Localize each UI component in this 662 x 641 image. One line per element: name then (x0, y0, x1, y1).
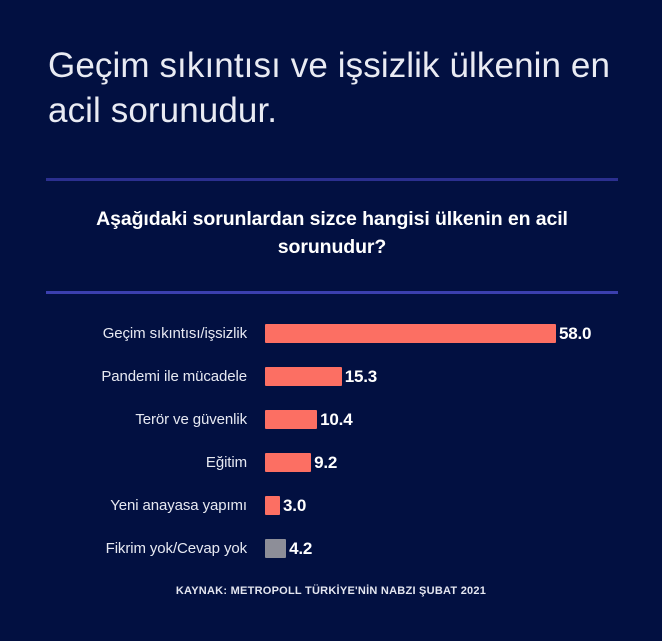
bar-track: 9.2 (265, 441, 662, 484)
bar-track: 15.3 (265, 355, 662, 398)
divider-middle (46, 291, 618, 294)
bar-category-label: Pandemi ile mücadele (0, 368, 265, 385)
bar-fill (265, 324, 556, 343)
survey-question: Aşağıdaki sorunlardan sizce hangisi ülke… (62, 206, 602, 261)
bar-value-label: 15.3 (345, 367, 377, 387)
divider-top (46, 178, 618, 181)
bar-track: 3.0 (265, 484, 662, 527)
bar-fill (265, 496, 280, 515)
bar-track: 4.2 (265, 527, 662, 570)
bar-category-label: Yeni anayasa yapımı (0, 497, 265, 514)
bar-value-label: 58.0 (559, 324, 591, 344)
bar-chart: Geçim sıkıntısı/işsizlik 58.0 Pandemi il… (0, 312, 662, 570)
bar-value-label: 4.2 (289, 539, 312, 559)
bar-fill (265, 453, 311, 472)
bar-value-label: 3.0 (283, 496, 306, 516)
bar-value-label: 9.2 (314, 453, 337, 473)
bar-category-label: Terör ve güvenlik (0, 411, 265, 428)
bar-category-label: Fikrim yok/Cevap yok (0, 540, 265, 557)
bar-category-label: Eğitim (0, 454, 265, 471)
bar-track: 10.4 (265, 398, 662, 441)
infographic-card: Geçim sıkıntısı ve işsizlik ülkenin en a… (0, 0, 662, 641)
source-caption: KAYNAK: METROPOLL TÜRKİYE'NİN NABZI ŞUBA… (0, 585, 662, 597)
bar-fill (265, 539, 286, 558)
bar-row: Geçim sıkıntısı/işsizlik 58.0 (0, 312, 662, 355)
bar-row: Terör ve güvenlik 10.4 (0, 398, 662, 441)
bar-category-label: Geçim sıkıntısı/işsizlik (0, 325, 265, 342)
bar-row: Yeni anayasa yapımı 3.0 (0, 484, 662, 527)
bar-value-label: 10.4 (320, 410, 352, 430)
bar-row: Fikrim yok/Cevap yok 4.2 (0, 527, 662, 570)
bar-track: 58.0 (265, 312, 662, 355)
bar-row: Eğitim 9.2 (0, 441, 662, 484)
bar-row: Pandemi ile mücadele 15.3 (0, 355, 662, 398)
bar-fill (265, 410, 317, 429)
page-title: Geçim sıkıntısı ve işsizlik ülkenin en a… (48, 44, 628, 134)
bar-fill (265, 367, 342, 386)
